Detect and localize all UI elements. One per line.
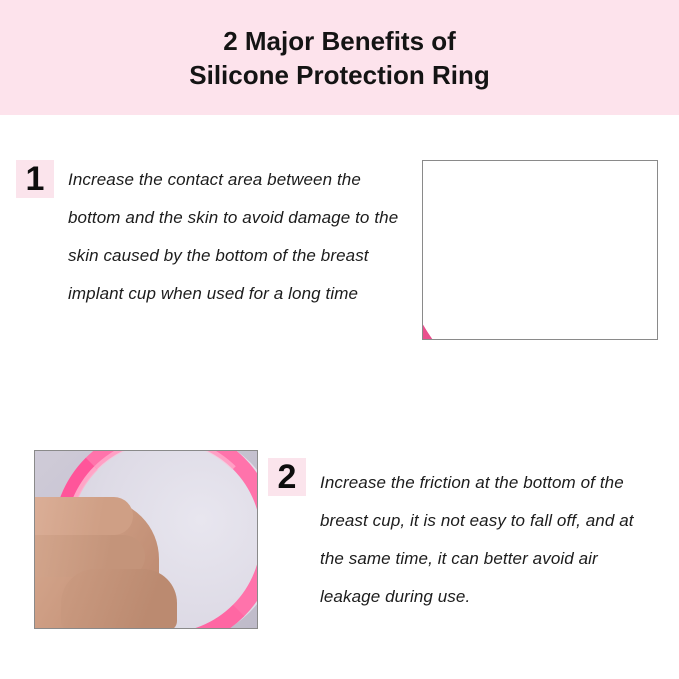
hand-thumb	[61, 569, 177, 629]
benefit-row-2: 2 Increase the friction at the bottom of…	[0, 450, 679, 629]
ring-arc-graphic	[422, 160, 658, 340]
benefit-text-1: Increase the contact area between the bo…	[68, 161, 408, 313]
page-title-line-2: Silicone Protection Ring	[189, 58, 489, 92]
product-photo-hand-holding-ring	[34, 450, 258, 629]
header-banner: 2 Major Benefits of Silicone Protection …	[0, 0, 679, 115]
benefit-number-badge-1: 1	[16, 160, 54, 198]
benefit-row-1: 1 Increase the contact area between the …	[0, 160, 679, 340]
benefit-text-2: Increase the friction at the bottom of t…	[320, 464, 660, 616]
page-title-line-1: 2 Major Benefits of	[223, 24, 456, 58]
benefit-number-badge-2: 2	[268, 458, 306, 496]
product-photo-ring-closeup	[422, 160, 658, 340]
ring-inner-white-area	[422, 160, 658, 340]
hand-finger-upper	[34, 497, 133, 535]
